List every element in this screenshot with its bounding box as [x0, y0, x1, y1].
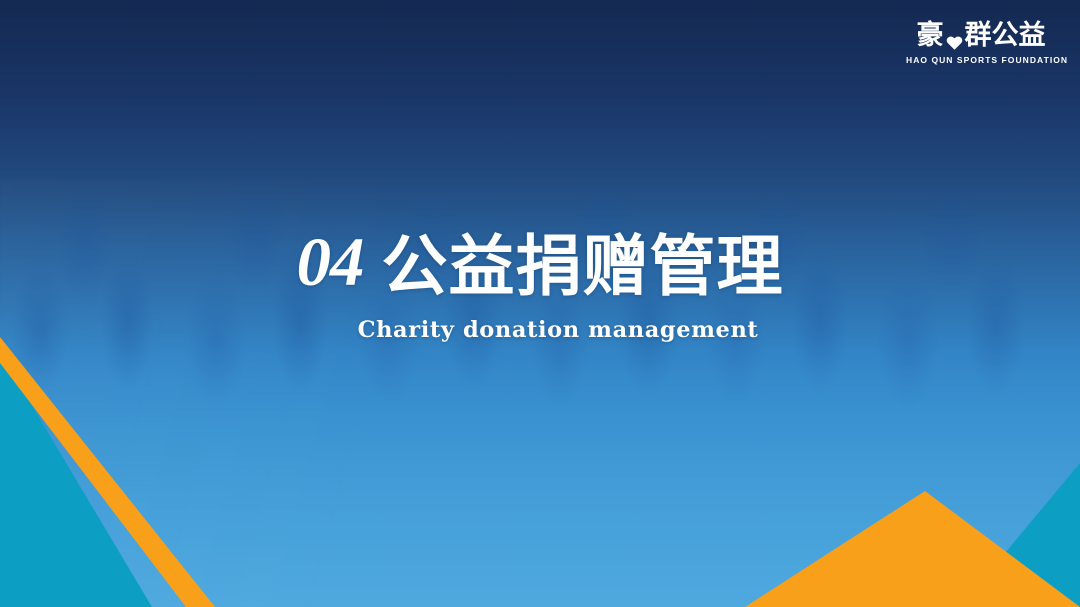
section-subtitle-english: Charity donation management — [358, 317, 759, 343]
logo-wordmark: 豪 群公益 — [906, 22, 1056, 49]
section-title-chinese: 公益捐赠管理 — [382, 232, 784, 301]
logo-tagline: HAO QUN SPORTS FOUNDATION — [906, 55, 1056, 65]
section-title-block: 04 公益捐赠管理 Charity donation management — [0, 232, 1080, 343]
logo-chars-qungongyi: 群公益 — [965, 22, 1046, 49]
brand-logo: 豪 群公益 HAO QUN SPORTS FOUNDATION — [906, 22, 1056, 65]
heart-icon — [946, 29, 963, 46]
logo-char-hao: 豪 — [917, 22, 944, 49]
title-row: 04 公益捐赠管理 — [297, 232, 784, 301]
section-number: 04 — [297, 228, 364, 297]
slide-canvas: 豪 群公益 HAO QUN SPORTS FOUNDATION 04 公益捐赠管… — [0, 0, 1080, 607]
